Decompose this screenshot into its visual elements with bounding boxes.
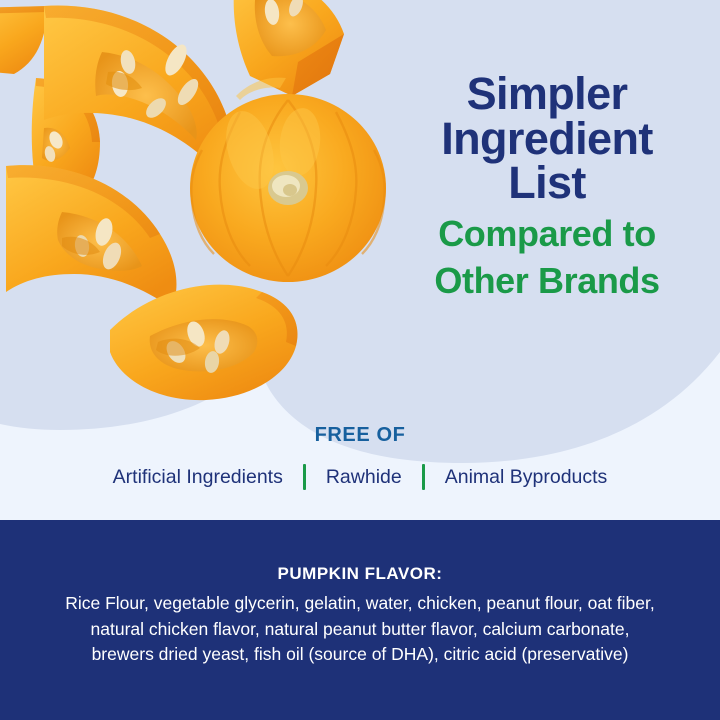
pumpkin-wedge-chunk-top	[234, 0, 344, 96]
divider-icon	[422, 464, 425, 490]
subheadline-line-1: Compared to	[392, 215, 702, 253]
free-of-list: Artificial Ingredients Rawhide Animal By…	[0, 464, 720, 490]
infographic-canvas: Simpler Ingredient List Compared to Othe…	[0, 0, 720, 720]
ingredients-panel: PUMPKIN FLAVOR: Rice Flour, vegetable gl…	[0, 520, 720, 720]
divider-icon	[303, 464, 306, 490]
headline-line-1: Simpler	[392, 72, 702, 117]
subheadline-line-2: Other Brands	[392, 262, 702, 300]
headline-block: Simpler Ingredient List Compared to Othe…	[392, 72, 702, 300]
ingredients-text: Rice Flour, vegetable glycerin, gelatin,…	[60, 591, 660, 668]
headline-line-3: List	[392, 161, 702, 206]
pumpkin-wedge-edge-left	[0, 6, 48, 74]
headline-line-2: Ingredient	[392, 117, 702, 162]
free-of-item-artificial-ingredients: Artificial Ingredients	[113, 466, 283, 489]
pumpkin-wedge-mid-left	[6, 165, 176, 308]
free-of-title: FREE OF	[0, 424, 720, 447]
flavor-title: PUMPKIN FLAVOR:	[60, 564, 660, 584]
free-of-item-rawhide: Rawhide	[326, 466, 402, 489]
pumpkin-wedge-bottom-center	[110, 285, 298, 400]
free-of-item-animal-byproducts: Animal Byproducts	[445, 466, 608, 489]
pumpkin-artwork	[0, 0, 460, 420]
